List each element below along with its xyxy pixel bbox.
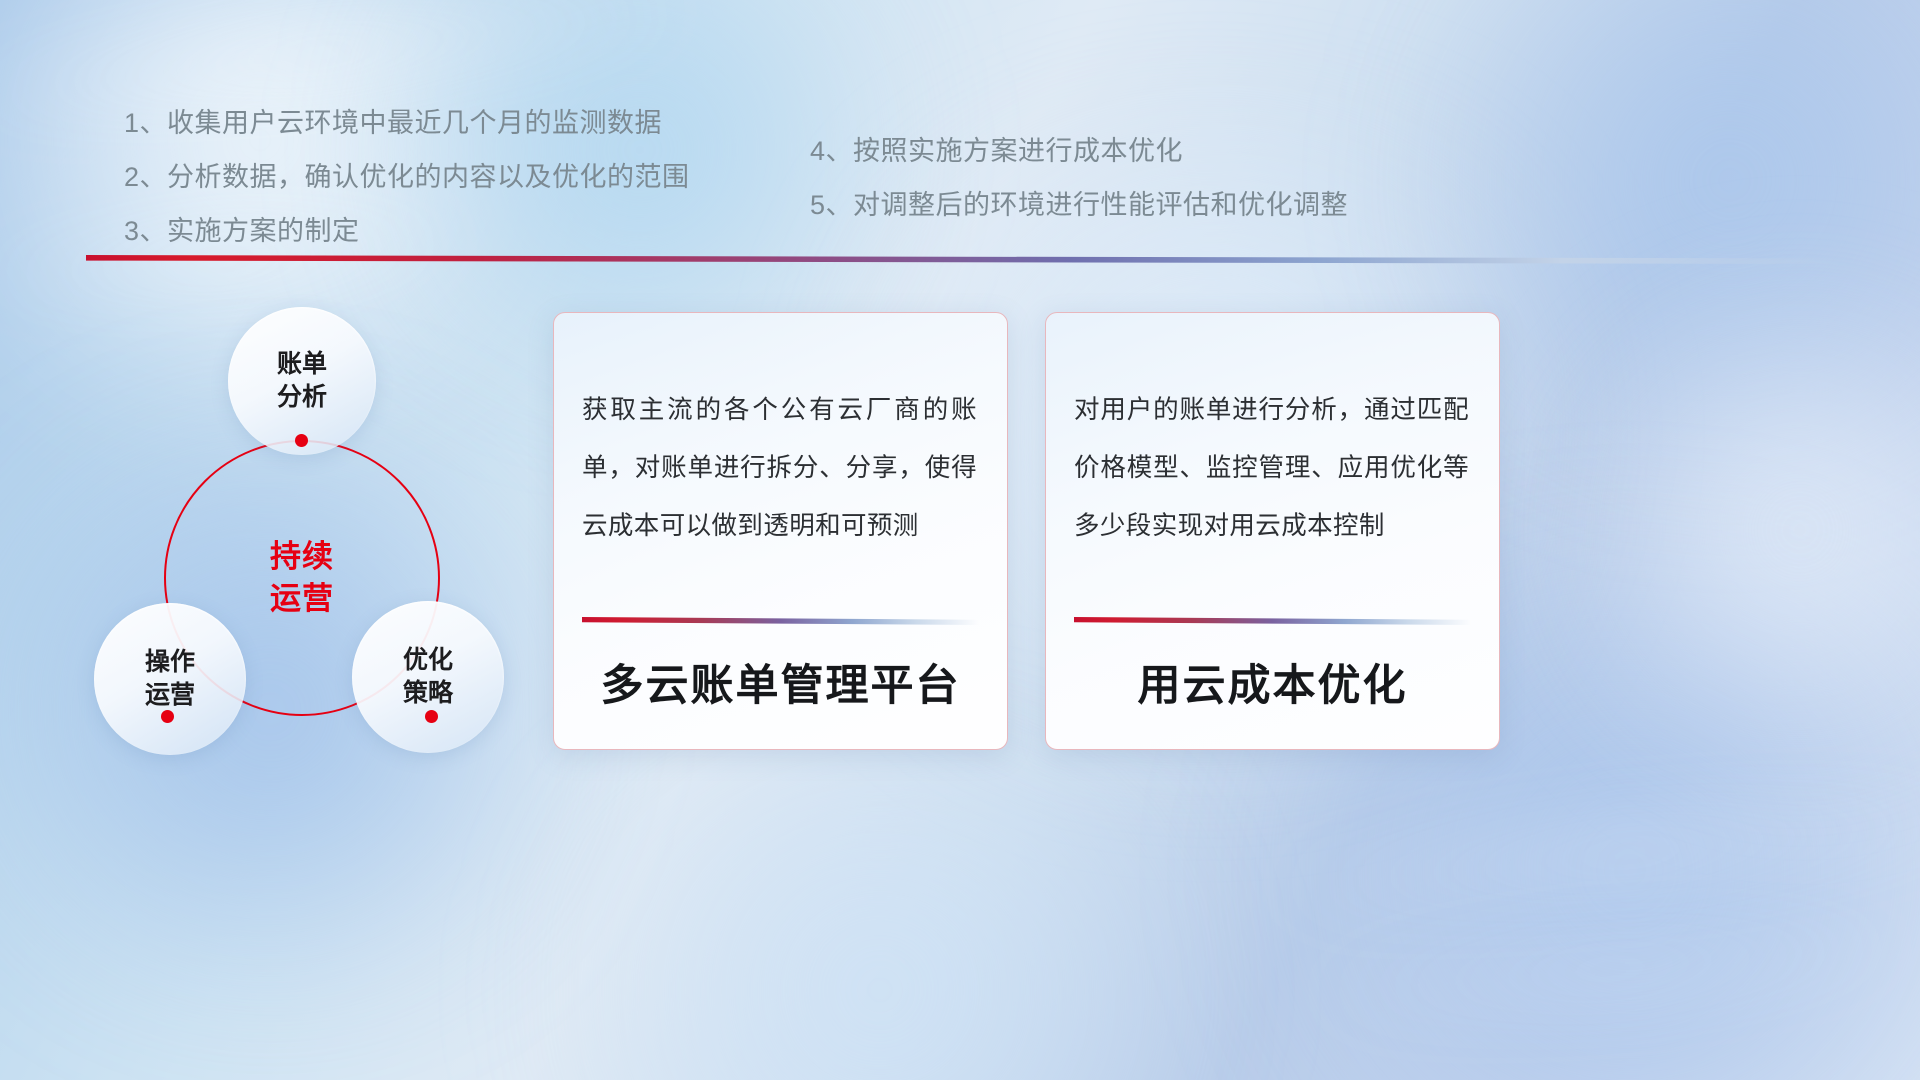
step-item-5: 5、对调整后的环境进行性能评估和优化调整 [810, 178, 1348, 232]
feature-card-cost-optimization[interactable]: 对用户的账单进行分析，通过匹配价格模型、监控管理、应用优化等多少段实现对用云成本… [1045, 312, 1500, 750]
cycle-bubble-billing-analysis[interactable]: 账单 分析 [228, 307, 376, 455]
center-label-line1: 持续 [270, 536, 334, 578]
section-divider [86, 255, 1842, 264]
cycle-diagram: 账单 分析 操作 运营 优化 策略 持续 运营 [80, 285, 540, 765]
card-body-text: 获取主流的各个公有云厂商的账单，对账单进行拆分、分享，使得云成本可以做到透明和可… [554, 313, 1007, 555]
step-item-1: 1、收集用户云环境中最近几个月的监测数据 [124, 96, 690, 150]
cycle-node-top-icon [295, 434, 308, 447]
card-accent-rule [1074, 617, 1471, 625]
bubble-label-line1: 账单 [277, 348, 327, 381]
bubble-label-line2: 分析 [277, 381, 327, 414]
card-body-text: 对用户的账单进行分析，通过匹配价格模型、监控管理、应用优化等多少段实现对用云成本… [1046, 313, 1499, 555]
steps-list-right: 4、按照实施方案进行成本优化 5、对调整后的环境进行性能评估和优化调整 [810, 124, 1348, 232]
divider-bar [86, 255, 1842, 264]
cycle-center-label: 持续 运营 [164, 440, 440, 716]
steps-list-left: 1、收集用户云环境中最近几个月的监测数据 2、分析数据，确认优化的内容以及优化的… [124, 96, 690, 258]
step-item-4: 4、按照实施方案进行成本优化 [810, 124, 1348, 178]
step-item-3: 3、实施方案的制定 [124, 204, 690, 258]
center-label-line2: 运营 [270, 578, 334, 620]
cycle-node-right-icon [425, 710, 438, 723]
cycle-node-left-icon [161, 710, 174, 723]
feature-card-billing-platform[interactable]: 获取主流的各个公有云厂商的账单，对账单进行拆分、分享，使得云成本可以做到透明和可… [553, 312, 1008, 750]
slide-content: 1、收集用户云环境中最近几个月的监测数据 2、分析数据，确认优化的内容以及优化的… [0, 0, 1920, 1080]
card-title: 多云账单管理平台 [554, 625, 1007, 749]
card-accent-rule [582, 617, 979, 625]
step-item-2: 2、分析数据，确认优化的内容以及优化的范围 [124, 150, 690, 204]
card-title: 用云成本优化 [1046, 625, 1499, 749]
